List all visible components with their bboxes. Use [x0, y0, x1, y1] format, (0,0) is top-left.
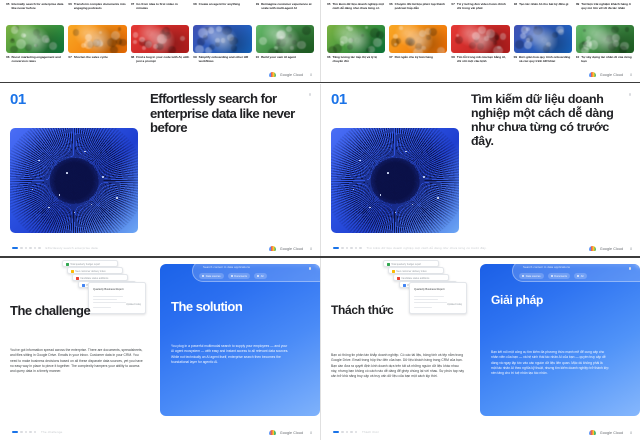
- doc-title: New customer delivery index: [75, 270, 106, 273]
- card-number: 06: [68, 3, 71, 11]
- pagination[interactable]: Effortlessly search enterprise data: [12, 246, 98, 250]
- doc-chip[interactable]: Total quarterly budget report: [383, 260, 439, 267]
- filter-chip[interactable]: All: [574, 273, 587, 279]
- card-bottom-caption: 06 Boost marketing engagement and conver…: [6, 55, 64, 63]
- grid-card[interactable]: 08 Create an agent for anything 09 Simpl…: [193, 3, 251, 63]
- google-cloud-logo-icon: [589, 72, 596, 77]
- brand-name: Google Cloud: [600, 247, 623, 251]
- card-caption: Tăng tương tác tiếp thị và tỷ lệ chuyển …: [332, 55, 385, 63]
- solution-body: You plug in a powerful multimodal search…: [171, 344, 289, 365]
- grid-card[interactable]: 07 Go from idea to first video in minute…: [131, 3, 189, 63]
- pagination-dot[interactable]: [38, 247, 41, 250]
- google-cloud-logo-icon: [589, 246, 596, 251]
- card-number: 07: [68, 55, 71, 59]
- card-top-caption: 07 Go from idea to first video in minute…: [131, 3, 189, 23]
- search-bar-mockup[interactable]: Search content in data applications Data…: [192, 264, 320, 282]
- card-number: 07: [131, 3, 134, 11]
- card-image: [131, 25, 189, 53]
- brand-name: Google Cloud: [600, 73, 623, 77]
- drive-file-icon: [403, 284, 406, 287]
- source-icon: [522, 275, 524, 277]
- slide-hero-en[interactable]: 01 Effortlessly search for enterprise da…: [0, 84, 320, 256]
- card-bottom-caption: 10 Build your own AI agent: [256, 55, 314, 59]
- card-caption: Đơn giản hoá quy trình onboarding và các…: [519, 55, 572, 63]
- document-icon: [231, 275, 233, 277]
- google-cloud-logo-icon: [269, 246, 276, 251]
- grid-card[interactable]: 09 Reimagine customer experience at scal…: [256, 3, 314, 63]
- grid-card[interactable]: 06 Transform complex documents into enga…: [68, 3, 126, 63]
- doc-chip[interactable]: Candidate status additions: [72, 274, 128, 281]
- pagination[interactable]: Thách thức: [333, 430, 379, 434]
- card-number: 06: [389, 3, 392, 11]
- card-top-caption: 08 Tạo tác nhân AI cho bất kỳ điều gì: [514, 3, 572, 23]
- card-top-caption: 05 Tìm kiếm dữ liệu doanh nghiệp một các…: [327, 3, 385, 23]
- pagination-label: Effortlessly search enterprise data: [46, 246, 98, 250]
- filter-chip[interactable]: Data sources: [199, 273, 224, 279]
- document-icon: [551, 275, 553, 277]
- solution-heading: Giải pháp: [491, 294, 611, 307]
- card-number: 05: [6, 3, 9, 11]
- card-number: 08: [514, 3, 517, 7]
- grid-card[interactable]: 06 Chuyển đổi tài liệu phức tạp thành po…: [389, 3, 447, 63]
- pagination-dot-active[interactable]: [333, 431, 339, 434]
- google-cloud-footer: Google Cloud 8: [269, 430, 312, 435]
- card-caption: Tạo tác nhân AI cho bất kỳ điều gì: [519, 3, 568, 7]
- doc-chip[interactable]: New customer delivery index: [67, 267, 123, 274]
- pagination-dot[interactable]: [346, 247, 349, 250]
- burst-core: [371, 157, 420, 203]
- card-caption: Tự xây dựng tác nhân AI của riêng bạn: [581, 55, 634, 63]
- slide-number: 01: [10, 92, 26, 107]
- card-number: 10: [576, 55, 579, 63]
- challenge-body: Bạn có thông tin phân tán khắp doanh ngh…: [331, 353, 465, 380]
- page-marker: 8: [630, 73, 632, 77]
- challenge-body: You've got information spread across the…: [10, 348, 144, 375]
- hero-image: [10, 128, 138, 233]
- card-number: 06: [327, 55, 330, 63]
- card-grid: 05 Tìm kiếm dữ liệu doanh nghiệp một các…: [327, 3, 634, 63]
- pagination-dot[interactable]: [346, 431, 349, 434]
- pagination-dot[interactable]: [350, 431, 353, 434]
- search-bar-mockup[interactable]: Search content in data applications Data…: [512, 264, 640, 282]
- pagination-dot[interactable]: [350, 247, 353, 250]
- card-caption: Từ ý tưởng đến video hoàn chỉnh chỉ tron…: [457, 3, 510, 11]
- pagination-label: The challenge: [41, 430, 62, 434]
- card-number: 09: [514, 55, 517, 63]
- grid-card[interactable]: 07 Từ ý tưởng đến video hoàn chỉnh chỉ t…: [451, 3, 509, 63]
- pagination-dot[interactable]: [29, 247, 32, 250]
- google-cloud-logo-icon: [589, 430, 596, 435]
- card-grid: 05 Internally search for enterprise data…: [6, 3, 314, 63]
- google-cloud-footer: Google Cloud 8: [269, 72, 312, 77]
- card-number: 09: [193, 55, 196, 63]
- card-caption: Rút ngắn chu kỳ bán hàng: [395, 55, 433, 59]
- challenge-heading: Thách thức: [331, 304, 461, 317]
- pagination-dot[interactable]: [25, 247, 28, 250]
- card-image: [327, 25, 385, 53]
- google-cloud-footer: Google Cloud 8: [269, 246, 312, 251]
- solution-body: Bạn kết nối một công cụ tìm kiếm đa phươ…: [491, 350, 609, 377]
- google-cloud-logo-icon: [269, 430, 276, 435]
- brand-name: Google Cloud: [280, 431, 303, 435]
- source-icon: [202, 275, 204, 277]
- page-marker: 8: [310, 431, 312, 435]
- screenshot-page: 05 Internally search for enterprise data…: [0, 0, 640, 440]
- card-image: [193, 25, 251, 53]
- google-cloud-footer: Google Cloud 8: [589, 246, 632, 251]
- card-top-caption: 08 Create an agent for anything: [193, 3, 251, 23]
- all-icon: [257, 275, 259, 277]
- brand-name: Google Cloud: [280, 73, 303, 77]
- filter-chip[interactable]: Documents: [228, 273, 250, 279]
- card-caption: Find a bug in your code with AI, with ju…: [136, 55, 189, 63]
- card-number: 05: [327, 3, 330, 11]
- google-cloud-footer: Google Cloud 8: [589, 430, 632, 435]
- filter-chip[interactable]: Data sources: [519, 273, 544, 279]
- drive-file-icon: [71, 270, 74, 273]
- card-bottom-caption: 06 Tăng tương tác tiếp thị và tỷ lệ chuy…: [327, 55, 385, 63]
- pagination-dot[interactable]: [341, 431, 344, 434]
- card-bottom-caption: 07 Shorten the sales cycle: [68, 55, 126, 59]
- search-input[interactable]: Search content in data applications: [203, 265, 250, 269]
- page-marker: 8: [310, 247, 312, 251]
- card-image: [256, 25, 314, 53]
- grid-card[interactable]: 08 Tạo tác nhân AI cho bất kỳ điều gì 09…: [514, 3, 572, 63]
- solution-heading: The solution: [171, 300, 291, 314]
- card-top-caption: 09 Tái hiện trải nghiệm khách hàng ở quy…: [576, 3, 634, 23]
- pagination-label: Tìm kiếm dữ liệu doanh nghiệp một cách d…: [367, 246, 487, 250]
- card-bottom-caption: 08 Find a bug in your code with AI, with…: [131, 55, 189, 63]
- pagination[interactable]: Tìm kiếm dữ liệu doanh nghiệp một cách d…: [333, 246, 487, 250]
- doc-chip[interactable]: New customer delivery index: [388, 267, 444, 274]
- brand-name: Google Cloud: [600, 431, 623, 435]
- google-cloud-footer: Google Cloud 8: [589, 72, 632, 77]
- pagination-label: Thách thức: [362, 430, 379, 434]
- card-caption: Simplify onboarding and other HR workflo…: [199, 55, 252, 63]
- pagination-dot[interactable]: [359, 247, 362, 250]
- card-caption: Tìm lỗi trong mã của bạn bằng AI, chỉ vớ…: [457, 55, 510, 63]
- grid-card[interactable]: 09 Tái hiện trải nghiệm khách hàng ở quy…: [576, 3, 634, 63]
- search-input[interactable]: Search content in data applications: [523, 265, 570, 269]
- pagination-dot[interactable]: [25, 431, 28, 434]
- filter-chip[interactable]: Documents: [548, 273, 570, 279]
- card-number: 08: [193, 3, 196, 7]
- card-number: 07: [451, 3, 454, 11]
- doc-title: Candidate status additions: [80, 277, 108, 280]
- card-number: 06: [6, 55, 9, 63]
- slide-corner-dot-icon: [629, 267, 632, 270]
- page-marker: 8: [310, 73, 312, 77]
- slide-row-card-grid: 05 Internally search for enterprise data…: [0, 0, 640, 82]
- card-caption: Tìm kiếm dữ liệu doanh nghiệp một cách d…: [332, 3, 385, 11]
- card-number: 08: [131, 55, 134, 63]
- doc-title: Total quarterly budget report: [391, 263, 421, 266]
- pagination-dot-active[interactable]: [12, 247, 18, 250]
- pagination[interactable]: The challenge: [12, 430, 62, 434]
- drive-file-icon: [392, 270, 395, 273]
- pagination-dot[interactable]: [355, 431, 358, 434]
- card-bottom-caption: 10 Tự xây dựng tác nhân AI của riêng bạn: [576, 55, 634, 63]
- card-top-caption: 06 Transform complex documents into enga…: [68, 3, 126, 23]
- card-number: 09: [576, 3, 579, 11]
- pagination-dot[interactable]: [20, 431, 23, 434]
- card-bottom-caption: 07 Rút ngắn chu kỳ bán hàng: [389, 55, 447, 59]
- card-caption: Reimagine customer experience at scale w…: [261, 3, 314, 11]
- card-top-caption: 06 Chuyển đổi tài liệu phức tạp thành po…: [389, 3, 447, 23]
- filter-chip[interactable]: All: [254, 273, 267, 279]
- search-filter-chips: Data sources Documents All: [519, 273, 587, 279]
- card-image: [6, 25, 64, 53]
- drive-file-icon: [387, 263, 390, 266]
- doc-title: Total quarterly budget report: [70, 263, 100, 266]
- card-caption: Shorten the sales cycle: [74, 55, 108, 59]
- doc-title: Candidate status additions: [401, 277, 429, 280]
- google-cloud-logo-icon: [269, 72, 276, 77]
- card-number: 07: [389, 55, 392, 59]
- card-caption: Go from idea to first video in minutes: [136, 3, 189, 11]
- slide-corner-dot-icon: [309, 93, 312, 96]
- hero-image: [331, 128, 459, 233]
- solution-panel: Search content in data applications Data…: [160, 264, 320, 416]
- slide-challenge-solution-en[interactable]: Total quarterly budget report New custom…: [0, 258, 320, 440]
- slide-hero-vi[interactable]: 01 Tìm kiếm dữ liệu doanh nghiệp một các…: [320, 84, 640, 256]
- hero-title: Effortlessly search for enterprise data …: [150, 92, 310, 136]
- card-bottom-caption: 09 Đơn giản hoá quy trình onboarding và …: [514, 55, 572, 63]
- slide-card-grid-en[interactable]: 05 Internally search for enterprise data…: [0, 0, 320, 82]
- burst-core: [50, 157, 99, 203]
- slide-corner-dot-icon: [629, 93, 632, 96]
- pagination-dot[interactable]: [355, 247, 358, 250]
- drive-file-icon: [66, 263, 69, 266]
- drive-file-icon: [76, 277, 79, 280]
- slide-card-grid-vi[interactable]: 05 Tìm kiếm dữ liệu doanh nghiệp một các…: [320, 0, 640, 82]
- grid-card[interactable]: 05 Internally search for enterprise data…: [6, 3, 64, 63]
- doc-chip[interactable]: Candidate status additions: [393, 274, 449, 281]
- pagination-dot-active[interactable]: [333, 247, 339, 250]
- pagination-dot[interactable]: [341, 247, 344, 250]
- pagination-dot[interactable]: [20, 247, 23, 250]
- card-caption: Transform complex documents into engagin…: [74, 3, 127, 11]
- drive-file-icon: [82, 284, 85, 287]
- pagination-dot[interactable]: [34, 431, 37, 434]
- card-top-caption: 09 Reimagine customer experience at scal…: [256, 3, 314, 23]
- slide-row-hero: 01 Effortlessly search for enterprise da…: [0, 84, 640, 256]
- card-bottom-caption: 08 Tìm lỗi trong mã của bạn bằng AI, chỉ…: [451, 55, 509, 63]
- slide-corner-dot-icon: [309, 267, 312, 270]
- all-icon: [577, 275, 579, 277]
- card-image: [389, 25, 447, 53]
- pagination-dot-active[interactable]: [12, 431, 18, 434]
- pagination-dot[interactable]: [34, 247, 37, 250]
- card-number: 08: [451, 55, 454, 63]
- slide-challenge-solution-vi[interactable]: Total quarterly budget report New custom…: [320, 258, 640, 440]
- card-bottom-caption: 09 Simplify onboarding and other HR work…: [193, 55, 251, 63]
- card-caption: Tái hiện trải nghiệm khách hàng ở quy mô…: [581, 3, 634, 11]
- solution-panel: Search content in data applications Data…: [480, 264, 640, 416]
- card-caption: Chuyển đổi tài liệu phức tạp thành podca…: [395, 3, 448, 11]
- card-image: [68, 25, 126, 53]
- page-marker: 8: [630, 431, 632, 435]
- card-number: 10: [256, 55, 259, 59]
- card-caption: Boost marketing engagement and conversio…: [11, 55, 64, 63]
- hero-title: Tìm kiếm dữ liệu doanh nghiệp một cách d…: [471, 92, 631, 149]
- brand-name: Google Cloud: [280, 247, 303, 251]
- grid-card[interactable]: 05 Tìm kiếm dữ liệu doanh nghiệp một các…: [327, 3, 385, 63]
- challenge-heading: The challenge: [10, 304, 140, 318]
- page-marker: 8: [630, 247, 632, 251]
- card-number: 09: [256, 3, 259, 11]
- card-top-caption: 05 Internally search for enterprise data…: [6, 3, 64, 23]
- card-image: [451, 25, 509, 53]
- doc-chip[interactable]: Total quarterly budget report: [62, 260, 118, 267]
- slide-number: 01: [331, 92, 347, 107]
- card-image: [514, 25, 572, 53]
- card-top-caption: 07 Từ ý tưởng đến video hoàn chỉnh chỉ t…: [451, 3, 509, 23]
- drive-file-icon: [397, 277, 400, 280]
- pagination-dot[interactable]: [29, 431, 32, 434]
- card-image: [576, 25, 634, 53]
- card-caption: Build your own AI agent: [261, 55, 296, 59]
- slide-row-challenge-solution: Total quarterly budget report New custom…: [0, 258, 640, 440]
- doc-title: New customer delivery index: [396, 270, 427, 273]
- search-filter-chips: Data sources Documents All: [199, 273, 267, 279]
- doc-preview-title: Quarterly Business Report: [414, 288, 444, 291]
- doc-preview-title: Quarterly Business Report: [93, 288, 123, 291]
- card-caption: Internally search for enterprise data li…: [11, 3, 64, 11]
- card-caption: Create an agent for anything: [199, 3, 240, 7]
